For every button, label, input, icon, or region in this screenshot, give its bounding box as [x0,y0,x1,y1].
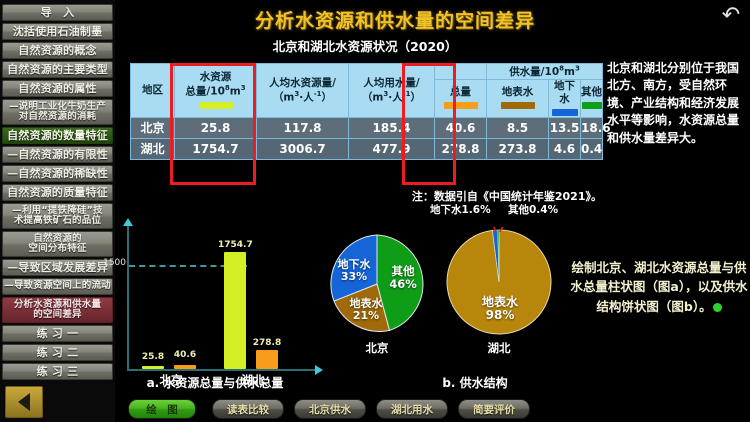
cell-surface: 273.8 [487,138,549,159]
cell-per-capita-use: 477.9 [349,138,435,159]
th-supply-total: 总量 [435,79,487,117]
table-row: 北京 25.8 117.8 185.4 40.6 8.5 13.5 18.6 [131,117,603,138]
sidebar-item-label: 练 习 二 [37,347,79,359]
cell-surface: 8.5 [487,117,549,138]
y-axis-arrow-icon [123,218,133,226]
sidebar-item-15[interactable]: 练 习 一 [2,325,113,342]
sidebar-item-2[interactable]: 自然资源的概念 [2,42,113,59]
bar-group-beijing: 25.8 40.6 [138,243,204,369]
pie-caption-hubei: 湖北 [449,340,549,356]
cell-region: 北京 [131,117,175,138]
cell-per-capita-use: 185.4 [349,117,435,138]
sidebar-item-label: —说明工业化牛奶生产对自然资源的消耗 [9,102,106,123]
sidebar-item-label: —自然资源的有限性 [7,149,108,161]
sidebar-item-label: —导致资源空间上的流动 [4,281,111,291]
back-triangle-icon [18,393,30,411]
bar-group-hubei: 1754.7 278.8 [220,243,286,369]
sidebar-item-label: 练 习 三 [37,366,79,378]
bar-label-beijing-supply-total: 40.6 [169,350,201,360]
th-total-water: 水资源总量/108m3 [175,64,257,118]
sidebar-item-label: 自然资源的概念 [18,45,96,57]
sidebar-item-label: —自然资源的稀缺性 [7,168,108,180]
toolbar-button-label: 读表比较 [227,402,269,417]
x-axis [127,369,317,371]
sidebar-item-9[interactable]: 自然资源的质量特征 [2,184,113,201]
page-title: 分析水资源和供水量的空间差异 [115,5,675,33]
pie-label-beijing-ground: 地下水33% [329,259,379,284]
water-resource-table: 地区 水资源总量/108m3 人均水资源量/（m3·人-1） 人均用水量/（m3… [130,63,602,185]
y-axis [127,226,129,371]
cell-other: 18.6 [581,117,603,138]
sidebar-item-label: 自然资源的数量特征 [7,130,108,142]
cell-region: 湖北 [131,138,175,159]
chart-a-caption: a. 水资源总量与供水总量 [100,374,330,391]
bar-label-hubei-supply-total: 278.8 [251,338,283,348]
th-supply-group-label: 供水量/108m3 [509,66,580,78]
sidebar-item-label: 自然资源的空间分布特征 [28,234,86,255]
toolbar-button-label: 绘 图 [146,402,178,417]
table-caption: 北京和湖北水资源状况（2020） [130,36,600,55]
bar-hubei-supply-total [256,350,278,369]
sidebar: 导 入沈括使用石油制墨自然资源的概念自然资源的主要类型自然资源的属性—说明工业化… [0,0,115,422]
green-dot-icon [713,303,722,312]
pie-callout-hubei-ground: 地下水1.6% [430,202,491,217]
annotation-right-top: 北京和湖北分别位于我国北方、南方，受自然环境、产业结构和经济发展水平等影响，水资… [607,60,749,147]
sidebar-item-label: 自然资源的属性 [18,83,96,95]
th-ground: 地下水 [549,79,581,117]
swatch-supply-total [444,102,478,109]
toolbar-button-1[interactable]: 读表比较 [212,399,284,419]
y-tick-1500: 1500 [98,258,126,268]
bar-label-hubei-total-water: 1754.7 [218,240,252,250]
cell-supply-total: 40.6 [435,117,487,138]
bar-beijing-total-water [142,366,164,369]
sidebar-item-5[interactable]: —说明工业化牛奶生产对自然资源的消耗 [2,99,113,125]
swatch-other [582,102,602,109]
pie-label-hubei-surface: 地表水98% [470,296,530,323]
sidebar-item-label: 分析水资源和供水量的空间差异 [14,300,101,321]
toolbar-button-label: 北京供水 [309,402,351,417]
swatch-surface [501,102,535,109]
sidebar-item-1[interactable]: 沈括使用石油制墨 [2,23,113,40]
sidebar-item-label: 练 习 一 [37,328,79,340]
cell-other: 0.4 [581,138,603,159]
table-row: 湖北 1754.7 3006.7 477.9 278.8 273.8 4.6 0… [131,138,603,159]
table: 地区 水资源总量/108m3 人均水资源量/（m3·人-1） 人均用水量/（m3… [130,63,603,160]
bar-hubei-total-water [224,252,246,369]
sidebar-item-6[interactable]: 自然资源的数量特征 [2,127,113,144]
toolbar-button-4[interactable]: 简要评价 [458,399,530,419]
sidebar-item-11[interactable]: 自然资源的空间分布特征 [2,231,113,257]
th-surface: 地表水 [487,79,549,117]
th-region-label: 地区 [142,84,163,96]
th-supply-blank [435,64,487,80]
table-header-row-1: 地区 水资源总量/108m3 人均水资源量/（m3·人-1） 人均用水量/（m3… [131,64,603,80]
sidebar-item-14[interactable]: 分析水资源和供水量的空间差异 [2,297,113,323]
slide-canvas: 导 入沈括使用石油制墨自然资源的概念自然资源的主要类型自然资源的属性—说明工业化… [0,0,750,422]
toolbar-button-label: 湖北用水 [391,402,433,417]
sidebar-item-12[interactable]: —导致区域发展差异 [2,259,113,276]
sidebar-item-13[interactable]: —导致资源空间上的流动 [2,278,113,295]
cell-ground: 4.6 [549,138,581,159]
sidebar-item-8[interactable]: —自然资源的稀缺性 [2,165,113,182]
sidebar-item-17[interactable]: 练 习 三 [2,363,113,380]
th-region: 地区 [131,64,175,118]
sidebar-item-10[interactable]: —利用“提铁降硅”技术提高铁矿石的品位 [2,203,113,229]
sidebar-item-7[interactable]: —自然资源的有限性 [2,146,113,163]
cell-per-capita-resource: 3006.7 [257,138,349,159]
undo-arrow-icon[interactable]: ↶ [718,4,744,30]
pie-callout-hubei-other: 其他0.4% [508,202,558,217]
bottom-toolbar: 绘 图读表比较北京供水湖北用水简要评价 [115,396,750,422]
annotation-right-bottom: 绘制北京、湖北水资源总量与供水总量柱状图（图a），以及供水结构饼状图（图b）。 [568,258,750,316]
swatch-total-water [199,102,233,109]
sidebar-item-label: 自然资源的质量特征 [7,187,108,199]
sidebar-item-label: —导致区域发展差异 [7,262,108,274]
toolbar-button-2[interactable]: 北京供水 [294,399,366,419]
swatch-ground [552,109,578,116]
th-per-capita-resource: 人均水资源量/（m3·人-1） [257,64,349,118]
sidebar-item-16[interactable]: 练 习 二 [2,344,113,361]
cell-total-water: 25.8 [175,117,257,138]
cell-total-water: 1754.7 [175,138,257,159]
toolbar-button-3[interactable]: 湖北用水 [376,399,448,419]
pie-label-beijing-surface: 地表水21% [341,298,391,323]
bar-label-beijing-total-water: 25.8 [137,352,169,362]
sidebar-item-0[interactable]: 导 入 [2,4,113,21]
pie-caption-beijing: 北京 [327,340,427,356]
toolbar-button-0[interactable]: 绘 图 [128,399,196,419]
sidebar-item-label: 自然资源的主要类型 [7,64,108,76]
th-other: 其他 [581,79,603,117]
sidebar-item-label: 导 入 [41,7,75,19]
th-supply-group: 供水量/108m3 [487,64,603,80]
bar-chart: 1500 25.8 40.6 北京 1754.7 278.8 湖北 [108,222,323,392]
cell-ground: 13.5 [549,117,581,138]
sidebar-item-3[interactable]: 自然资源的主要类型 [2,61,113,78]
pie-label-beijing-other: 其他46% [381,265,425,291]
cell-per-capita-resource: 117.8 [257,117,349,138]
chart-b-caption: b. 供水结构 [375,374,575,391]
bar-beijing-supply-total [174,365,196,369]
sidebar-item-label: —利用“提铁降硅”技术提高铁矿石的品位 [12,206,103,227]
cell-supply-total: 278.8 [435,138,487,159]
th-per-capita-use: 人均用水量/（m3·人-1） [349,64,435,118]
back-arrow-icon[interactable] [5,386,43,418]
sidebar-item-4[interactable]: 自然资源的属性 [2,80,113,97]
sidebar-item-label: 沈括使用石油制墨 [13,26,103,38]
toolbar-button-label: 简要评价 [473,402,515,417]
